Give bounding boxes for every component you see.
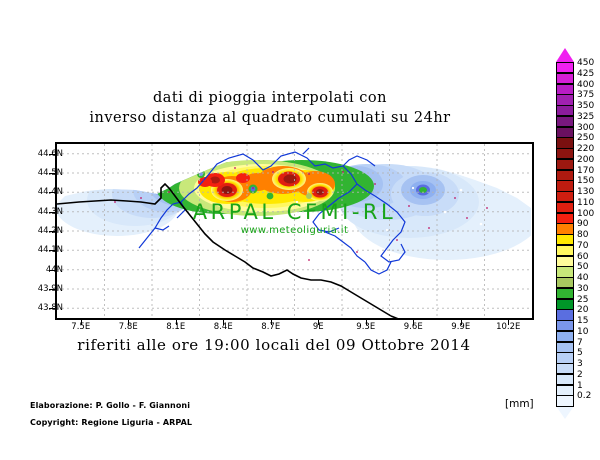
colorbar-segment-350 <box>556 105 574 116</box>
colorbar-label-300: 300 <box>577 123 594 133</box>
chart-title-line1: dati di pioggia interpolati con <box>0 90 540 106</box>
y-axis-tick-4 <box>49 231 55 232</box>
colorbar-label-40: 40 <box>577 273 588 283</box>
colorbar-segment-400 <box>556 84 574 95</box>
colorbar-segment-90 <box>556 223 574 234</box>
y-axis-label-5: 44.1N <box>17 245 63 255</box>
colorbar-label-250: 250 <box>577 133 594 143</box>
colorbar-segment-25 <box>556 299 574 310</box>
colorbar-label-200: 200 <box>577 155 594 165</box>
colorbar-segment-70 <box>556 245 574 256</box>
colorbar-label-425: 425 <box>577 69 594 79</box>
credit-authors: Elaborazione: P. Gollo - F. Giannoni <box>30 401 190 410</box>
colorbar-segment-110 <box>556 202 574 213</box>
colorbar-label-70: 70 <box>577 241 588 251</box>
colorbar-label-5: 5 <box>577 348 583 358</box>
colorbar-segment-0.2 <box>556 395 574 406</box>
y-axis-tick-7 <box>49 289 55 290</box>
x-axis-tick-2 <box>176 320 177 325</box>
figure-canvas: dati di pioggia interpolati con inverso … <box>0 0 600 460</box>
y-axis-tick-6 <box>49 270 55 271</box>
colorbar-segment-10 <box>556 331 574 342</box>
chart-caption: riferiti alle ore 19:00 locali del 09 Ot… <box>0 336 548 354</box>
colorbar-segment-325 <box>556 116 574 127</box>
map-canvas: ARPAL CFMI-RL www.meteoliguria.it <box>57 144 532 318</box>
credit-copyright: Copyright: Regione Liguria - ARPAL <box>30 418 192 427</box>
x-axis-tick-9 <box>508 320 509 325</box>
colorbar-label-110: 110 <box>577 198 594 208</box>
x-axis-tick-4 <box>271 320 272 325</box>
y-axis-tick-0 <box>49 154 55 155</box>
colorbar-segment-300 <box>556 127 574 138</box>
colorbar-segment-2 <box>556 374 574 385</box>
y-axis-label-1: 44.5N <box>17 168 63 178</box>
colorbar-label-170: 170 <box>577 166 594 176</box>
colorbar-label-1: 1 <box>577 381 583 391</box>
colorbar-label-3: 3 <box>577 359 583 369</box>
colorbar-segment-15 <box>556 320 574 331</box>
colorbar-label-400: 400 <box>577 80 594 90</box>
colorbar-segment-7 <box>556 342 574 353</box>
y-axis-label-8: 43.8N <box>17 303 63 313</box>
colorbar-label-15: 15 <box>577 316 588 326</box>
colorbar-segment-220 <box>556 148 574 159</box>
colorbar-label-7: 7 <box>577 338 583 348</box>
colorbar-bottom-arrow <box>556 406 574 419</box>
y-axis-tick-3 <box>49 212 55 213</box>
colorbar-label-50: 50 <box>577 262 588 272</box>
colorbar-unit-label: [mm] <box>505 398 534 410</box>
colorbar-segment-450 <box>556 62 574 73</box>
colorbar-label-130: 130 <box>577 187 594 197</box>
colorbar-label-220: 220 <box>577 144 594 154</box>
colorbar-segment-150 <box>556 180 574 191</box>
colorbar-label-0.2: 0.2 <box>577 391 591 401</box>
y-axis-tick-2 <box>49 192 55 193</box>
x-axis-tick-0 <box>81 320 82 325</box>
y-axis-tick-5 <box>49 250 55 251</box>
x-axis-tick-8 <box>461 320 462 325</box>
colorbar <box>556 62 574 406</box>
colorbar-segment-80 <box>556 234 574 245</box>
colorbar-label-2: 2 <box>577 370 583 380</box>
x-axis-tick-7 <box>413 320 414 325</box>
y-axis-label-2: 44.4N <box>17 187 63 197</box>
y-axis-tick-1 <box>49 173 55 174</box>
colorbar-segment-200 <box>556 159 574 170</box>
colorbar-segment-425 <box>556 73 574 84</box>
colorbar-segment-20 <box>556 309 574 320</box>
colorbar-top-arrow <box>556 48 574 62</box>
x-axis-tick-5 <box>318 320 319 325</box>
precipitation-map-svg <box>57 144 532 318</box>
colorbar-label-325: 325 <box>577 112 594 122</box>
colorbar-label-90: 90 <box>577 219 588 229</box>
colorbar-label-20: 20 <box>577 305 588 315</box>
colorbar-label-60: 60 <box>577 252 588 262</box>
y-axis-label-3: 44.3N <box>17 207 63 217</box>
colorbar-segment-250 <box>556 137 574 148</box>
colorbar-segment-170 <box>556 170 574 181</box>
colorbar-label-375: 375 <box>577 90 594 100</box>
colorbar-segment-100 <box>556 213 574 224</box>
colorbar-segment-40 <box>556 277 574 288</box>
colorbar-label-30: 30 <box>577 284 588 294</box>
x-axis-tick-1 <box>128 320 129 325</box>
y-axis-label-6: 44N <box>17 265 63 275</box>
y-axis-label-4: 44.2N <box>17 226 63 236</box>
colorbar-segment-3 <box>556 363 574 374</box>
colorbar-segment-60 <box>556 256 574 267</box>
colorbar-segment-1 <box>556 385 574 396</box>
colorbar-segment-50 <box>556 266 574 277</box>
colorbar-label-25: 25 <box>577 295 588 305</box>
colorbar-label-80: 80 <box>577 230 588 240</box>
x-axis-tick-6 <box>366 320 367 325</box>
colorbar-label-350: 350 <box>577 101 594 111</box>
colorbar-label-100: 100 <box>577 209 594 219</box>
chart-title-line2: inverso distanza al quadrato cumulati su… <box>0 110 540 126</box>
colorbar-segment-5 <box>556 352 574 363</box>
colorbar-label-450: 450 <box>577 58 594 68</box>
colorbar-label-10: 10 <box>577 327 588 337</box>
y-axis-label-0: 44.6N <box>17 149 63 159</box>
x-axis-tick-3 <box>223 320 224 325</box>
colorbar-segment-30 <box>556 288 574 299</box>
y-axis-label-7: 43.9N <box>17 284 63 294</box>
colorbar-label-150: 150 <box>577 176 594 186</box>
map-plot-area: ARPAL CFMI-RL www.meteoliguria.it <box>55 142 534 320</box>
y-axis-tick-8 <box>49 308 55 309</box>
colorbar-segment-130 <box>556 191 574 202</box>
colorbar-segment-375 <box>556 94 574 105</box>
